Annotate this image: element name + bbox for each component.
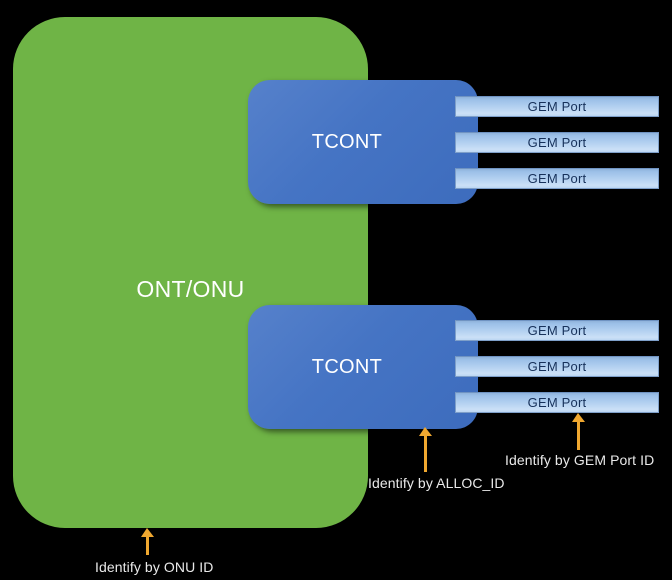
gem-port-label-1-3: GEM Port [528,171,587,186]
tcont-label-2: TCONT [248,355,446,379]
diagram-canvas: ONT/ONU TCONT GEM Port GEM Port GEM Port… [0,0,672,580]
gem-port-bar-1-1: GEM Port [455,96,659,117]
gem-port-bar-1-3: GEM Port [455,168,659,189]
gem-port-label-2-2: GEM Port [528,359,587,374]
tcont-box-2: TCONT [248,305,478,429]
gem-port-bar-2-3: GEM Port [455,392,659,413]
gem-port-bar-1-2: GEM Port [455,132,659,153]
onu-id-callout-label: Identify by ONU ID [95,559,214,576]
onu-id-arrow-icon [141,528,154,555]
tcont-label-1: TCONT [248,130,446,154]
gem-port-id-callout-label: Identify by GEM Port ID [505,452,654,469]
gem-port-bar-2-2: GEM Port [455,356,659,377]
alloc-id-arrow-icon [419,427,432,472]
gem-port-label-2-1: GEM Port [528,323,587,338]
tcont-box-1: TCONT [248,80,478,204]
gem-port-label-2-3: GEM Port [528,395,587,410]
gem-port-label-1-1: GEM Port [528,99,587,114]
gem-port-bar-2-1: GEM Port [455,320,659,341]
alloc-id-callout-label: Identify by ALLOC_ID [368,475,505,492]
gem-port-id-arrow-icon [572,413,585,450]
onu-label: ONT/ONU [13,275,368,303]
gem-port-label-1-2: GEM Port [528,135,587,150]
